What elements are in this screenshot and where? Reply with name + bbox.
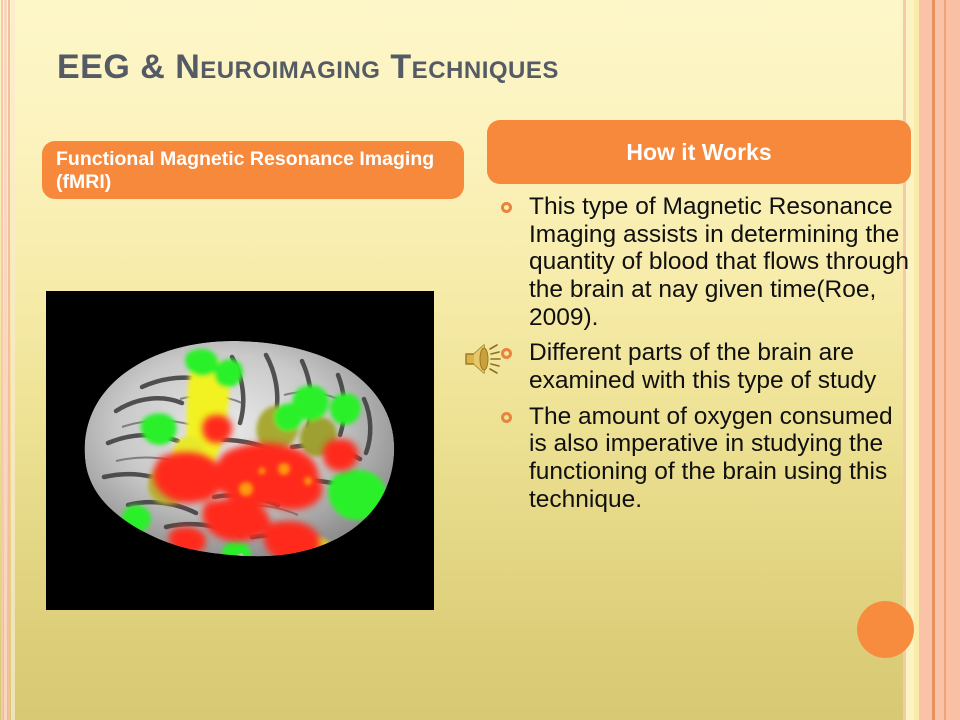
list-item: The amount of oxygen consumed is also im…	[497, 403, 909, 514]
how-it-works-heading-box: How it Works	[487, 120, 911, 184]
right-edge-stripe-4	[919, 0, 932, 720]
bullet-circle-icon	[501, 412, 512, 423]
left-edge-stripe-2	[4, 0, 7, 720]
fmri-heading-box: Functional Magnetic Resonance Imaging (f…	[42, 141, 464, 199]
slide-title: EEG & Neuroimaging Techniques	[57, 48, 559, 87]
right-edge-stripe-7	[944, 0, 946, 720]
bullet-circle-icon	[501, 348, 512, 359]
list-item-text: This type of Magnetic Resonance Imaging …	[529, 193, 909, 331]
list-item-text: Different parts of the brain are examine…	[529, 339, 876, 394]
left-edge-stripe-4	[11, 0, 15, 720]
list-item-text: The amount of oxygen consumed is also im…	[529, 403, 893, 513]
left-edge-stripe-3	[8, 0, 10, 720]
bullet-circle-icon	[501, 202, 512, 213]
right-edge-stripe-6	[935, 0, 944, 720]
fmri-brain-image	[46, 291, 434, 610]
right-edge-stripe-5	[932, 0, 935, 720]
list-item: This type of Magnetic Resonance Imaging …	[497, 193, 909, 331]
right-edge-stripe-8	[946, 0, 960, 720]
list-item: Different parts of the brain are examine…	[497, 339, 909, 394]
how-it-works-bullet-list: This type of Magnetic Resonance Imaging …	[497, 193, 909, 513]
orange-circle-decoration	[857, 601, 914, 658]
slide-canvas: EEG & Neuroimaging Techniques Functional…	[0, 0, 960, 720]
right-edge-stripe-3	[914, 0, 919, 720]
left-edge-stripe-1	[1, 0, 3, 720]
